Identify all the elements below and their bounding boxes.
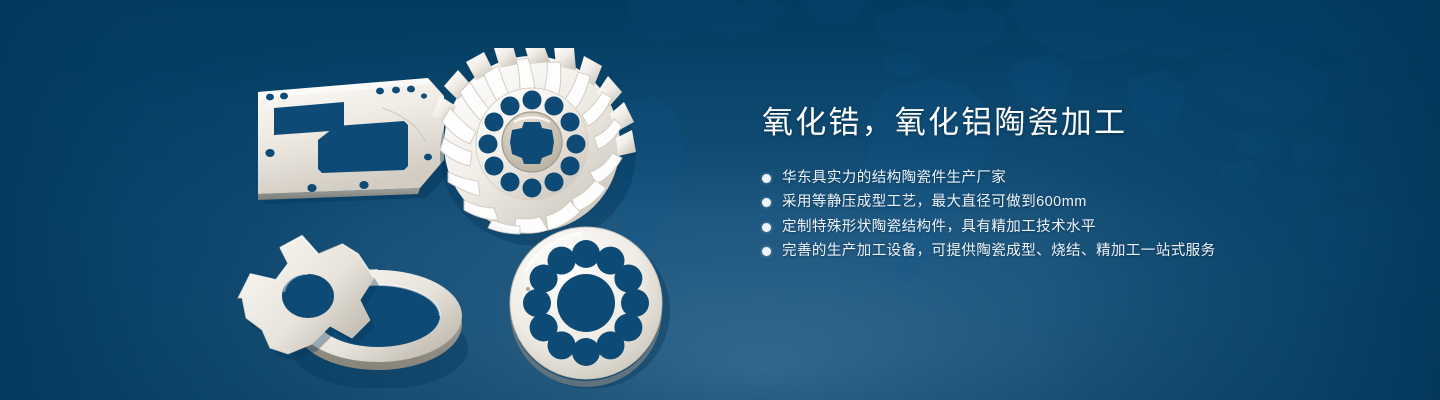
feature-list: 华东具实力的结构陶瓷件生产厂家 采用等静压成型工艺，最大直径可做到600mm 定…: [762, 171, 1322, 259]
list-item: 采用等静压成型工艺，最大直径可做到600mm: [762, 195, 1322, 210]
page-title: 氧化锆，氧化铝陶瓷加工: [762, 104, 1322, 143]
feature-text: 定制特殊形状陶瓷结构件，具有精加工技术水平: [782, 220, 1096, 235]
feature-text: 完善的生产加工设备，可提供陶瓷成型、烧结、精加工一站式服务: [782, 244, 1216, 259]
banner-copy: 氧化锆，氧化铝陶瓷加工 华东具实力的结构陶瓷件生产厂家 采用等静压成型工艺，最大…: [762, 104, 1322, 259]
list-item: 完善的生产加工设备，可提供陶瓷成型、烧结、精加工一站式服务: [762, 244, 1322, 259]
feature-text: 采用等静压成型工艺，最大直径可做到600mm: [782, 195, 1087, 210]
ceramic-mounting-plate: [258, 78, 450, 204]
feature-text: 华东具实力的结构陶瓷件生产厂家: [782, 171, 1006, 186]
ceramic-perforated-disc: [510, 227, 670, 388]
promo-banner: 氧化锆，氧化铝陶瓷加工 华东具实力的结构陶瓷件生产厂家 采用等静压成型工艺，最大…: [0, 0, 1440, 400]
ceramic-cross-hub-and-ring: [238, 236, 468, 388]
list-item: 华东具实力的结构陶瓷件生产厂家: [762, 171, 1322, 186]
bullet-dot-icon: [762, 198, 771, 207]
bullet-dot-icon: [762, 247, 771, 256]
ceramic-vaned-impeller: [432, 48, 636, 246]
list-item: 定制特殊形状陶瓷结构件，具有精加工技术水平: [762, 220, 1322, 235]
ceramic-products-photo: [232, 48, 702, 388]
bullet-dot-icon: [762, 223, 771, 232]
bullet-dot-icon: [762, 174, 771, 183]
